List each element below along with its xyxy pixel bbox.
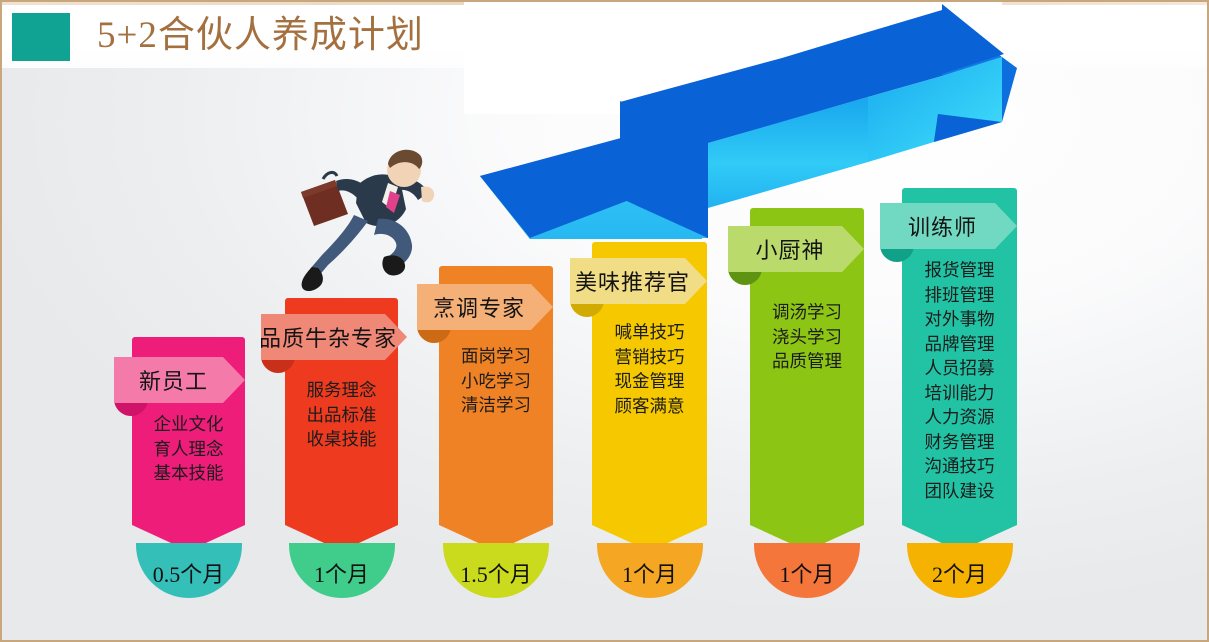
column-item: 调汤学习 xyxy=(750,300,864,325)
column-item: 人力资源 xyxy=(902,405,1017,430)
column-items: 报货管理排班管理对外事物品牌管理人员招募培训能力人力资源财务管理沟通技巧团队建设 xyxy=(902,258,1017,503)
column-item: 清洁学习 xyxy=(439,393,553,418)
career-column-new-employee[interactable]: 企业文化育人理念基本技能新员工 xyxy=(132,337,245,551)
column-item: 收桌技能 xyxy=(285,427,398,452)
column-title-label: 训练师 xyxy=(908,210,977,242)
career-column-trainer[interactable]: 报货管理排班管理对外事物品牌管理人员招募培训能力人力资源财务管理沟通技巧团队建设… xyxy=(902,188,1017,551)
column-item: 营销技巧 xyxy=(592,345,707,370)
column-item: 培训能力 xyxy=(902,381,1017,406)
ribbon-body: 烹调专家 xyxy=(417,284,553,330)
column-items: 喊单技巧营销技巧现金管理顾客满意 xyxy=(592,320,707,418)
duration-label: 1.5个月 xyxy=(460,557,532,589)
column-items: 调汤学习浇头学习品质管理 xyxy=(750,300,864,374)
duration-badge-new-employee[interactable]: 0.5个月 xyxy=(136,543,242,598)
column-title-label: 美味推荐官 xyxy=(575,265,690,297)
career-column-cooking-expert[interactable]: 面岗学习小吃学习清洁学习烹调专家 xyxy=(439,266,553,551)
duration-label: 1个月 xyxy=(622,557,677,589)
column-item: 浇头学习 xyxy=(750,325,864,350)
column-items: 面岗学习小吃学习清洁学习 xyxy=(439,344,553,418)
career-column-little-chef-god[interactable]: 调汤学习浇头学习品质管理小厨神 xyxy=(750,208,864,551)
column-item: 出品标准 xyxy=(285,403,398,428)
duration-badge-cooking-expert[interactable]: 1.5个月 xyxy=(443,543,549,598)
column-title-label: 新员工 xyxy=(139,364,208,396)
duration-badge-delicious-recommender[interactable]: 1个月 xyxy=(597,543,703,598)
column-item: 对外事物 xyxy=(902,307,1017,332)
column-item: 企业文化 xyxy=(132,412,245,437)
page-title: 5+2合伙人养成计划 xyxy=(97,8,424,64)
column-item: 沟通技巧 xyxy=(902,454,1017,479)
column-item: 团队建设 xyxy=(902,479,1017,504)
column-item: 品牌管理 xyxy=(902,332,1017,357)
duration-badge-little-chef-god[interactable]: 1个月 xyxy=(754,543,860,598)
column-title-ribbon: 新员工 xyxy=(114,357,245,403)
column-item: 面岗学习 xyxy=(439,344,553,369)
title-accent-square xyxy=(12,13,70,61)
column-item: 财务管理 xyxy=(902,430,1017,455)
ribbon-body: 新员工 xyxy=(114,357,245,403)
slide-canvas: 5+2合伙人养成计划 xyxy=(0,0,1209,642)
column-title-ribbon: 烹调专家 xyxy=(417,284,553,330)
column-item: 现金管理 xyxy=(592,369,707,394)
column-item: 品质管理 xyxy=(750,349,864,374)
column-title-ribbon: 美味推荐官 xyxy=(570,258,707,304)
column-title-label: 品质牛杂专家 xyxy=(259,321,397,353)
column-title-ribbon: 品质牛杂专家 xyxy=(261,314,407,360)
column-item: 小吃学习 xyxy=(439,369,553,394)
ribbon-body: 小厨神 xyxy=(728,226,864,272)
column-item: 报货管理 xyxy=(902,258,1017,283)
duration-label: 0.5个月 xyxy=(153,557,225,589)
column-item: 人员招募 xyxy=(902,356,1017,381)
column-item: 顾客满意 xyxy=(592,394,707,419)
column-item: 基本技能 xyxy=(132,461,245,486)
column-items: 服务理念出品标准收桌技能 xyxy=(285,378,398,452)
column-item: 育人理念 xyxy=(132,437,245,462)
ribbon-body: 训练师 xyxy=(880,203,1017,249)
ribbon-body: 美味推荐官 xyxy=(570,258,707,304)
duration-label: 1个月 xyxy=(779,557,834,589)
column-title-label: 烹调专家 xyxy=(433,291,525,323)
column-item: 喊单技巧 xyxy=(592,320,707,345)
career-column-delicious-recommender[interactable]: 喊单技巧营销技巧现金管理顾客满意美味推荐官 xyxy=(592,242,707,551)
column-title-ribbon: 小厨神 xyxy=(728,226,864,272)
duration-badge-trainer[interactable]: 2个月 xyxy=(907,543,1013,598)
career-column-quality-beef-offal-expert[interactable]: 服务理念出品标准收桌技能品质牛杂专家 xyxy=(285,298,398,551)
column-item: 服务理念 xyxy=(285,378,398,403)
duration-label: 2个月 xyxy=(932,557,987,589)
column-title-label: 小厨神 xyxy=(755,233,824,265)
column-items: 企业文化育人理念基本技能 xyxy=(132,412,245,486)
ribbon-body: 品质牛杂专家 xyxy=(261,314,407,360)
column-item: 排班管理 xyxy=(902,283,1017,308)
duration-badge-quality-beef-offal-expert[interactable]: 1个月 xyxy=(289,543,395,598)
column-title-ribbon: 训练师 xyxy=(880,203,1017,249)
duration-label: 1个月 xyxy=(314,557,369,589)
